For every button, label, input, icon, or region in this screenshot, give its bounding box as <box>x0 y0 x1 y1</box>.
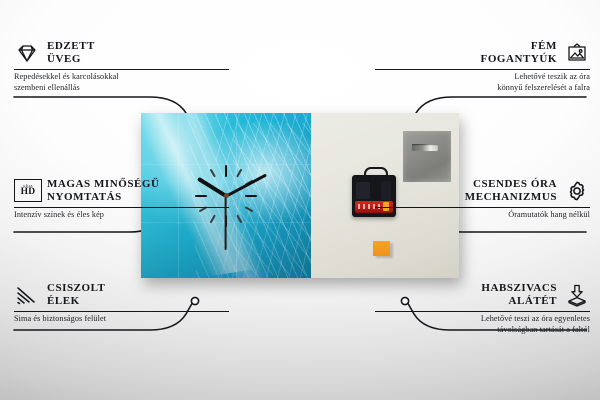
divider <box>375 207 590 208</box>
divider <box>14 207 229 208</box>
metal-hanger-plate <box>403 131 451 182</box>
callout-desc-line2: könnyű felszerelését a falra <box>497 83 590 92</box>
callout-fem-fogantyuk[interactable]: FÉM FOGANTYÚK Lehetővé teszik az óra kön… <box>375 40 590 94</box>
callout-title-line1: MAGAS MINŐSÉGŰ <box>47 178 160 190</box>
callout-desc-line1: Sima és biztonságos felület <box>14 314 106 323</box>
divider <box>14 311 229 312</box>
callout-title-line2: NYOMTATÁS <box>47 191 122 203</box>
diamond-icon <box>14 41 40 65</box>
callout-magas-minosegu-nyomtatas[interactable]: ultra HD MAGAS MINŐSÉGŰ NYOMTATÁS Intenz… <box>14 178 229 221</box>
callout-desc-line1: Lehetővé teszik az óra <box>514 72 590 81</box>
foam-pad-arrow-icon <box>564 283 590 307</box>
ultra-hd-icon: ultra HD <box>14 179 40 203</box>
callout-csiszolt-elek[interactable]: CSISZOLT ÉLEK Sima és biztonságos felüle… <box>14 282 229 325</box>
callout-title-line1: CSENDES ÓRA <box>473 178 557 190</box>
picture-hanger-icon <box>564 41 590 65</box>
divider <box>375 311 590 312</box>
callout-title-line2: ÜVEG <box>47 53 81 65</box>
callout-title-line1: EDZETT <box>47 40 95 52</box>
gear-icon <box>564 179 590 203</box>
divider <box>14 69 229 70</box>
callout-desc-line1: Repedésekkel és karcolásokkal <box>14 72 119 81</box>
infographic-canvas: EDZETT ÜVEG Repedésekkel és karcolásokka… <box>0 0 600 400</box>
callout-title-line1: CSISZOLT <box>47 282 105 294</box>
callout-title-line1: HABSZIVACS <box>481 282 557 294</box>
foam-pad <box>373 241 390 256</box>
ultra-hd-icon-bottom: HD <box>21 188 36 198</box>
divider <box>375 69 590 70</box>
callout-desc-line2: távolságban tartását a faltól <box>497 325 590 334</box>
callout-desc-line1: Intenzív színek és éles kép <box>14 210 104 219</box>
callout-title-line2: ALÁTÉT <box>508 295 557 307</box>
callout-desc-line2: szembeni ellenállás <box>14 83 80 92</box>
callout-title-line1: FÉM <box>531 40 557 52</box>
callout-desc-line1: Lehetővé teszi az óra egyenletes <box>481 314 590 323</box>
polished-edges-icon <box>14 283 40 307</box>
callout-habszivacs-alatet[interactable]: HABSZIVACS ALÁTÉT Lehetővé teszi az óra … <box>375 282 590 336</box>
callout-title-line2: ÉLEK <box>47 295 80 307</box>
callout-edzett-uveg[interactable]: EDZETT ÜVEG Repedésekkel és karcolásokka… <box>14 40 229 94</box>
callout-desc-line1: Óramutatók hang nélkül <box>508 210 590 219</box>
callout-csendes-ora-mechanizmus[interactable]: CSENDES ÓRA MECHANIZMUS Óramutatók hang … <box>375 178 590 221</box>
callout-title-line2: MECHANIZMUS <box>465 191 557 203</box>
callout-title-line2: FOGANTYÚK <box>481 53 557 65</box>
